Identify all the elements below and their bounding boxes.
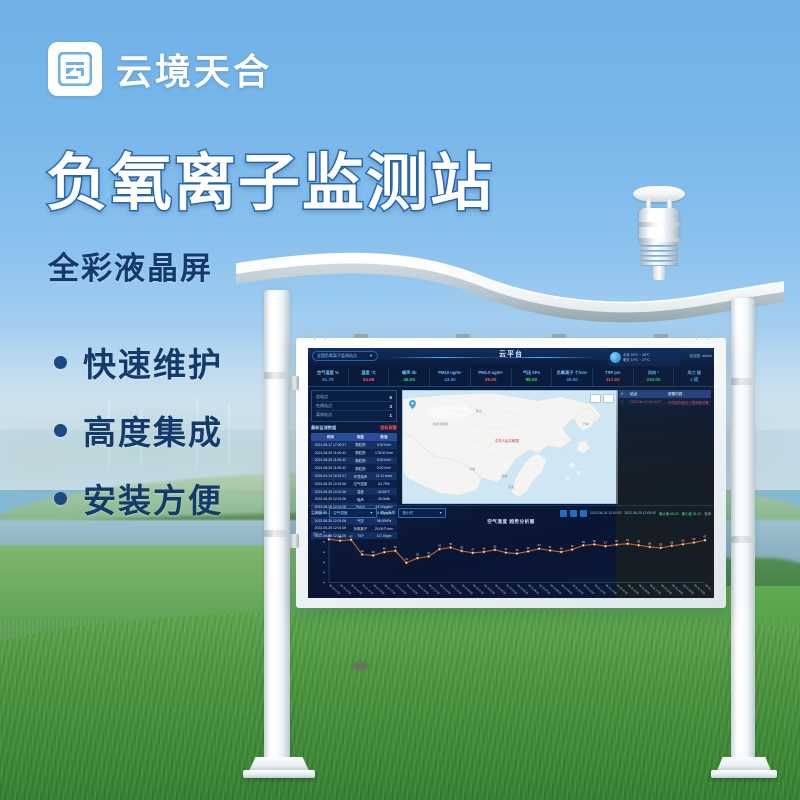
- stat-row: 离线站点 1: [316, 411, 392, 419]
- list-item: 安装方便: [54, 474, 223, 522]
- shield-fin: [640, 247, 678, 250]
- post-band: [731, 378, 755, 385]
- metric-cell: 风向 ° 233.00: [634, 368, 675, 386]
- legend-max: 最大值 68.22: [659, 511, 679, 516]
- bar-chart-icon[interactable]: [570, 510, 577, 517]
- table-row[interactable]: 2022-06-25 12:01:06噪声45.00db: [311, 495, 397, 503]
- map-zoom-controls: [590, 394, 614, 403]
- bullet-label: 高度集成: [83, 406, 223, 454]
- svg-text:49: 49: [527, 546, 530, 550]
- chart-plot-area: 6866674443485031394153555047485247464953…: [311, 526, 711, 598]
- map-zoom-out-button[interactable]: [603, 394, 614, 403]
- stat-key: 在线站点: [316, 403, 332, 409]
- metric-cell: 风力 级 1 级: [674, 368, 714, 386]
- bullet-dot-icon: [54, 424, 67, 437]
- cell-type: 环境噪声: [350, 472, 371, 480]
- table-header-row: 时间 类型 数值: [311, 433, 397, 441]
- stat-key: 离线站点: [316, 412, 332, 418]
- subtitle: 全彩液晶屏: [48, 243, 213, 288]
- sensor-mount-stem: [653, 266, 665, 280]
- map-place-label: 印度: [469, 467, 475, 471]
- chevron-down-icon: ▼: [370, 509, 374, 517]
- metric-cell: 温度 ℃ 34.58: [349, 368, 390, 386]
- map-place-label: 日本: [583, 422, 589, 426]
- svg-text:53: 53: [438, 544, 441, 548]
- metric-value: 35.00: [471, 376, 511, 383]
- radiation-shield-fins: [640, 242, 678, 268]
- legend-min: 最小值 31.20: [682, 511, 702, 516]
- page-title: 负氧离子监测站: [46, 132, 494, 222]
- cell-value: 34.58℃: [371, 488, 397, 496]
- alarm-panel: # 站点 报警内容 1 2022-06-12 16:20:27 环境噪声超过上限…: [618, 387, 714, 505]
- alarm-station-header: 站点: [630, 392, 664, 397]
- svg-text:47: 47: [505, 547, 508, 551]
- metric-cell: 噪声 db 45.00: [389, 368, 430, 386]
- weather-row: 明天 19℃ ~ 27℃: [623, 358, 678, 362]
- cell-time: 2021-06-17 17:00:27: [311, 441, 350, 449]
- lawn-rock: [352, 662, 370, 671]
- svg-text:53: 53: [538, 543, 541, 547]
- cell-time: 2022-06-25 12:01:06: [311, 488, 350, 496]
- stat-row: 总站点 5: [316, 393, 392, 402]
- metric-cell: TSP pm 117.00: [593, 368, 634, 386]
- list-item: 快速维护: [54, 338, 223, 386]
- svg-text:52: 52: [571, 544, 574, 548]
- cell-type: 颗粒物: [350, 457, 371, 465]
- svg-text:48: 48: [383, 547, 386, 551]
- cell-time: 2021-06-25 11:00:42: [311, 457, 350, 465]
- cell-type: 空气湿度: [350, 480, 371, 488]
- cell-time: 2020-04-14 16:24:27: [311, 472, 350, 480]
- svg-text:61: 61: [626, 538, 629, 542]
- metric-value: 25.00: [552, 376, 592, 383]
- metric-value: 117.00: [593, 376, 633, 383]
- left-panel: 总站点 5 在线站点 3 离线站点 1 最新监测数据: [308, 387, 400, 505]
- bullet-label: 快速维护: [83, 338, 223, 386]
- cell-type: 温度: [350, 488, 371, 496]
- chart-toolbar: 监测因子 空气湿度 ▼ 统计周期 按小时 ▼ 2022-06-24 12: [311, 508, 711, 518]
- svg-text:47: 47: [471, 547, 474, 551]
- bullet-dot-icon: [54, 492, 67, 505]
- table-row[interactable]: 2021-06-17 17:00:27颗粒物0.00 h/m³: [311, 441, 397, 449]
- chart-toolbar-right: 2022-06-24 12:00:00 2022-06-25 12:00:00 …: [560, 510, 711, 517]
- bullet-dot-icon: [54, 356, 67, 369]
- table-row[interactable]: 2021-06-25 11:00:42颗粒物178.00 h/m³: [311, 449, 397, 457]
- map-place-label: 泰国: [508, 485, 514, 489]
- table-row[interactable]: 2022-06-25 12:01:06温度34.58℃: [311, 488, 397, 496]
- svg-text:60: 60: [615, 539, 618, 543]
- frame-hanger: [696, 332, 708, 340]
- period-select-value: 按小时: [402, 509, 413, 517]
- post-band: [264, 372, 290, 379]
- alarm-table-header: # 站点 报警内容: [619, 390, 711, 398]
- metric-cell: PM2.5 ug/m³ 35.00: [471, 368, 512, 386]
- table-row[interactable]: 2020-04-14 16:24:27环境噪声21.11 lm/m: [311, 472, 397, 480]
- map-place-label: 蒙古: [476, 409, 482, 413]
- support-post-left: [264, 290, 290, 760]
- table-row[interactable]: 2022-06-25 12:01:06空气湿度61.75%: [311, 480, 397, 488]
- sensor-cap: [633, 186, 685, 202]
- dashboard-body: 总站点 5 在线站点 3 离线站点 1 最新监测数据: [308, 387, 714, 505]
- cell-type: 颗粒物: [350, 441, 371, 449]
- bullet-label: 安装方便: [83, 474, 223, 522]
- frame-hinge: [290, 376, 299, 390]
- svg-text:56: 56: [648, 541, 651, 545]
- trend-line-chart: 6866674443485031394153555047485247464953…: [311, 526, 711, 598]
- ultrasonic-weather-sensor: [631, 186, 687, 278]
- svg-text:57: 57: [604, 541, 607, 545]
- metric-value: 1 级: [674, 376, 714, 383]
- stat-key: 总站点: [316, 394, 328, 400]
- cell-type: 颗粒物: [350, 449, 371, 457]
- brand-name: 云境天合: [116, 43, 272, 95]
- column-header-value: 数值: [371, 433, 397, 441]
- date-from[interactable]: 2022-06-24 12:00:00: [590, 511, 621, 515]
- svg-text:68: 68: [328, 534, 331, 538]
- factor-select-value: 空气湿度: [333, 509, 347, 517]
- frame-clip: [654, 334, 668, 338]
- metric-cell: 气压 kPa 98.00: [512, 368, 553, 386]
- map-panel: 蒙古 哈萨克斯坦 印度 缅甸 泰国 日本 中华人民共和国: [400, 387, 618, 505]
- svg-text:60: 60: [681, 539, 684, 543]
- stat-row: 在线站点 3: [316, 402, 392, 411]
- metric-cell: 负氧离子 个/cm³ 25.00: [552, 368, 593, 386]
- alarm-time: 2022-06-12 16:20:27: [630, 400, 664, 405]
- svg-text:67: 67: [704, 535, 707, 539]
- cell-value: 21.11 lm/m: [371, 472, 397, 480]
- frame-clip: [354, 334, 368, 338]
- post-band: [731, 536, 755, 543]
- site-select-value: 全国负氧离子监测站点: [317, 351, 357, 361]
- map-pin-icon[interactable]: [409, 396, 416, 405]
- shield-fin: [640, 262, 678, 265]
- table-row[interactable]: 2021-06-25 11:00:42颗粒物0.00 h/m³: [311, 464, 397, 472]
- post-base-plate-left: [243, 770, 315, 778]
- svg-text:41: 41: [427, 551, 430, 555]
- station-stats-card: 总站点 5 在线站点 3 离线站点 1: [311, 390, 397, 422]
- cell-value: 45.00db: [371, 495, 397, 503]
- cell-value: 0.00 h/m³: [371, 464, 397, 472]
- export-icon[interactable]: [580, 510, 587, 517]
- svg-text:48: 48: [482, 546, 485, 550]
- metric-value: 43.00: [430, 376, 470, 383]
- map-region-label: 中华人民共和国: [495, 438, 519, 443]
- svg-text:48: 48: [560, 546, 563, 550]
- metric-value: 233.00: [634, 376, 674, 383]
- svg-text:60: 60: [593, 539, 596, 543]
- alarm-row[interactable]: 1 2022-06-12 16:20:27 环境噪声超过上限阈值设置报警: [619, 398, 711, 406]
- svg-text:59: 59: [637, 540, 640, 544]
- svg-text:31: 31: [405, 557, 408, 561]
- svg-text:44: 44: [361, 549, 364, 553]
- china-map[interactable]: 蒙古 哈萨克斯坦 印度 缅甸 泰国 日本 中华人民共和国: [402, 390, 618, 504]
- metrics-row: 空气湿度 % 61.75 温度 ℃ 34.58 噪声 db 45.00 PM10…: [308, 368, 714, 387]
- factor-label: 监测因子: [311, 511, 326, 516]
- svg-text:06-25 22:00: 06-25 22:00: [704, 583, 711, 595]
- realtime-list-header: 最新监测数据 超标报警: [311, 425, 397, 431]
- wavy-canopy: [230, 248, 790, 323]
- svg-text:55: 55: [449, 542, 452, 546]
- cell-time: 2021-06-25 11:00:42: [311, 464, 350, 472]
- column-header-type: 类型: [350, 433, 371, 441]
- realtime-list-title: 最新监测数据: [311, 425, 336, 431]
- cloud-icon: [610, 352, 621, 363]
- cell-value: 0.00 h/m³: [371, 457, 397, 465]
- list-item: 高度集成: [54, 406, 223, 454]
- weather-row: 今天 20℃ ~ 28℃: [623, 353, 678, 357]
- cell-type: 颗粒物: [350, 464, 371, 472]
- alarm-content-header: 报警内容: [668, 392, 709, 397]
- support-post-right: [731, 298, 755, 760]
- alarm-message: 环境噪声超过上限阈值设置报警: [668, 400, 709, 405]
- svg-text:46: 46: [516, 548, 519, 552]
- cell-value: 61.75%: [371, 480, 397, 488]
- svg-text:51: 51: [549, 545, 552, 549]
- alarm-link[interactable]: 超标报警: [380, 425, 397, 431]
- svg-text:59: 59: [582, 540, 585, 544]
- svg-text:50: 50: [460, 545, 463, 549]
- lcd-display-frame: 云平台 全国负氧离子监测站点 ▼ 今天 20℃ ~ 28℃ 明天 19℃ ~ 2…: [296, 338, 726, 608]
- product-marketing-image: 云平台 全国负氧离子监测站点 ▼ 今天 20℃ ~ 28℃ 明天 19℃ ~ 2…: [0, 0, 800, 800]
- alarm-index-header: #: [621, 392, 626, 397]
- metric-value: 45.00: [389, 376, 429, 383]
- chevron-down-icon: ▼: [369, 351, 373, 361]
- weather-widget: 今天 20℃ ~ 28℃ 明天 19℃ ~ 27℃: [608, 349, 680, 366]
- svg-text:67: 67: [350, 534, 353, 538]
- post-band: [264, 530, 290, 537]
- svg-text:湿度 %: 湿度 %: [313, 532, 322, 536]
- shield-fin: [640, 252, 678, 255]
- post-base-plate-right: [711, 770, 777, 778]
- frame-clip: [552, 334, 566, 338]
- table-view-icon[interactable]: [560, 510, 567, 517]
- stat-value: 1: [390, 413, 392, 418]
- brand-logo: 云境天合: [48, 42, 272, 96]
- metric-value: 61.75: [308, 376, 348, 383]
- dashboard-header: 云平台 全国负氧离子监测站点 ▼ 今天 20℃ ~ 28℃ 明天 19℃ ~ 2…: [308, 348, 714, 368]
- cell-time: 2022-06-25 12:01:06: [311, 480, 350, 488]
- svg-text:43: 43: [372, 550, 375, 554]
- site-select[interactable]: 全国负氧离子监测站点 ▼: [312, 351, 378, 361]
- svg-text:52: 52: [493, 544, 496, 548]
- table-row[interactable]: 2021-06-25 11:00:42颗粒物0.00 h/m³: [311, 457, 397, 465]
- factor-select[interactable]: 空气湿度 ▼: [329, 508, 377, 518]
- metric-cell: PM10 ug/m³ 43.00: [430, 368, 471, 386]
- shield-fin: [640, 242, 678, 245]
- date-to[interactable]: 2022-06-25 12:00:00: [625, 511, 656, 515]
- cell-time: 2021-06-25 11:00:42: [311, 449, 350, 457]
- chevron-down-icon: ▼: [439, 509, 443, 517]
- frame-hanger: [314, 332, 326, 340]
- shield-fin: [640, 257, 678, 260]
- cell-type: 噪声: [350, 495, 371, 503]
- frame-clip: [456, 334, 470, 338]
- map-zoom-in-button[interactable]: [590, 394, 601, 403]
- svg-text:50: 50: [394, 545, 397, 549]
- alarm-index: 1: [621, 400, 626, 405]
- grass-texture: [0, 620, 800, 800]
- trend-chart-section: 监测因子 空气湿度 ▼ 统计周期 按小时 ▼ 2022-06-24 12: [308, 505, 714, 598]
- stat-value: 5: [390, 395, 392, 400]
- feature-bullets: 快速维护 高度集成 安装方便: [54, 338, 223, 542]
- period-select[interactable]: 按小时 ▼: [398, 508, 446, 518]
- sensor-ring: [638, 222, 680, 227]
- map-place-label: 缅甸: [501, 474, 507, 478]
- dashboard-screen: 云平台 全国负氧离子监测站点 ▼ 今天 20℃ ~ 28℃ 明天 19℃ ~ 2…: [308, 348, 714, 598]
- metric-cell: 空气湿度 % 61.75: [308, 368, 349, 386]
- svg-text:55: 55: [659, 542, 662, 546]
- weather-forecast: 今天 20℃ ~ 28℃ 明天 19℃ ~ 27℃: [623, 353, 678, 362]
- svg-text:58: 58: [670, 540, 673, 544]
- metric-value: 34.58: [349, 376, 389, 383]
- svg-text:39: 39: [416, 553, 419, 557]
- cell-value: 178.00 h/m³: [371, 449, 397, 457]
- chart-title: 空气湿度 趋势分析图: [311, 519, 711, 525]
- metric-value: 98.00: [512, 376, 552, 383]
- column-header-time: 时间: [311, 433, 350, 441]
- zt-monogram-logo-icon: [48, 42, 102, 96]
- cell-time: 2022-06-25 12:01:06: [311, 495, 350, 503]
- svg-text:66: 66: [339, 535, 342, 539]
- svg-text:63: 63: [693, 537, 696, 541]
- stat-value: 3: [390, 404, 392, 409]
- cell-value: 0.00 h/m³: [371, 441, 397, 449]
- map-place-label: 哈萨克斯坦: [433, 422, 448, 426]
- frame-hinge: [290, 534, 299, 548]
- query-button[interactable]: 查询: [704, 511, 711, 516]
- user-greeting: 欢迎您, admin: [689, 354, 712, 359]
- period-label: 统计周期: [380, 511, 395, 516]
